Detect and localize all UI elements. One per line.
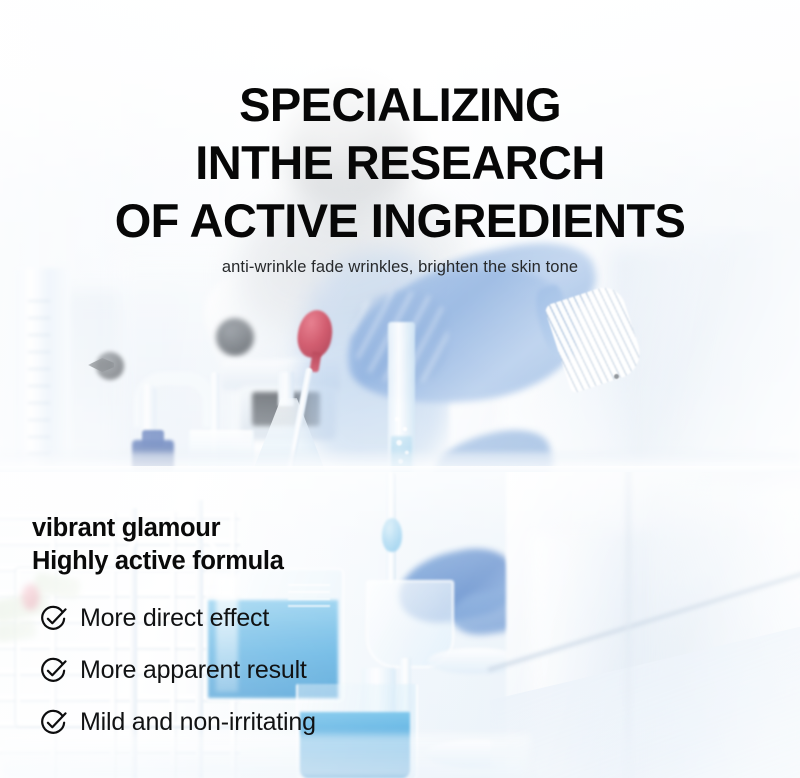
list-item: Mild and non-irritating (32, 696, 462, 748)
product-banner: SPECIALIZING INTHE RESEARCH OF ACTIVE IN… (0, 0, 800, 778)
benefits-copy-block: vibrant glamour Highly active formula Mo… (32, 512, 462, 748)
list-item-label: Mild and non-irritating (80, 708, 316, 737)
list-item-label: More apparent result (80, 656, 307, 685)
brand-tagline: Highly active formula (32, 545, 462, 578)
list-item: More apparent result (32, 644, 462, 696)
list-item-label: More direct effect (80, 604, 269, 633)
check-circle-icon (40, 605, 67, 632)
check-circle-icon (40, 709, 67, 736)
headline-line-1: SPECIALIZING (0, 76, 800, 134)
brand-name: vibrant glamour (32, 512, 462, 545)
headline-block: SPECIALIZING INTHE RESEARCH OF ACTIVE IN… (0, 76, 800, 250)
headline-line-2: INTHE RESEARCH (0, 134, 800, 192)
headline-line-3: OF ACTIVE INGREDIENTS (0, 192, 800, 250)
benefits-list: More direct effect More apparent result (32, 592, 462, 748)
headline-subtitle: anti-wrinkle fade wrinkles, brighten the… (0, 258, 800, 277)
check-circle-icon (40, 657, 67, 684)
list-item: More direct effect (32, 592, 462, 644)
